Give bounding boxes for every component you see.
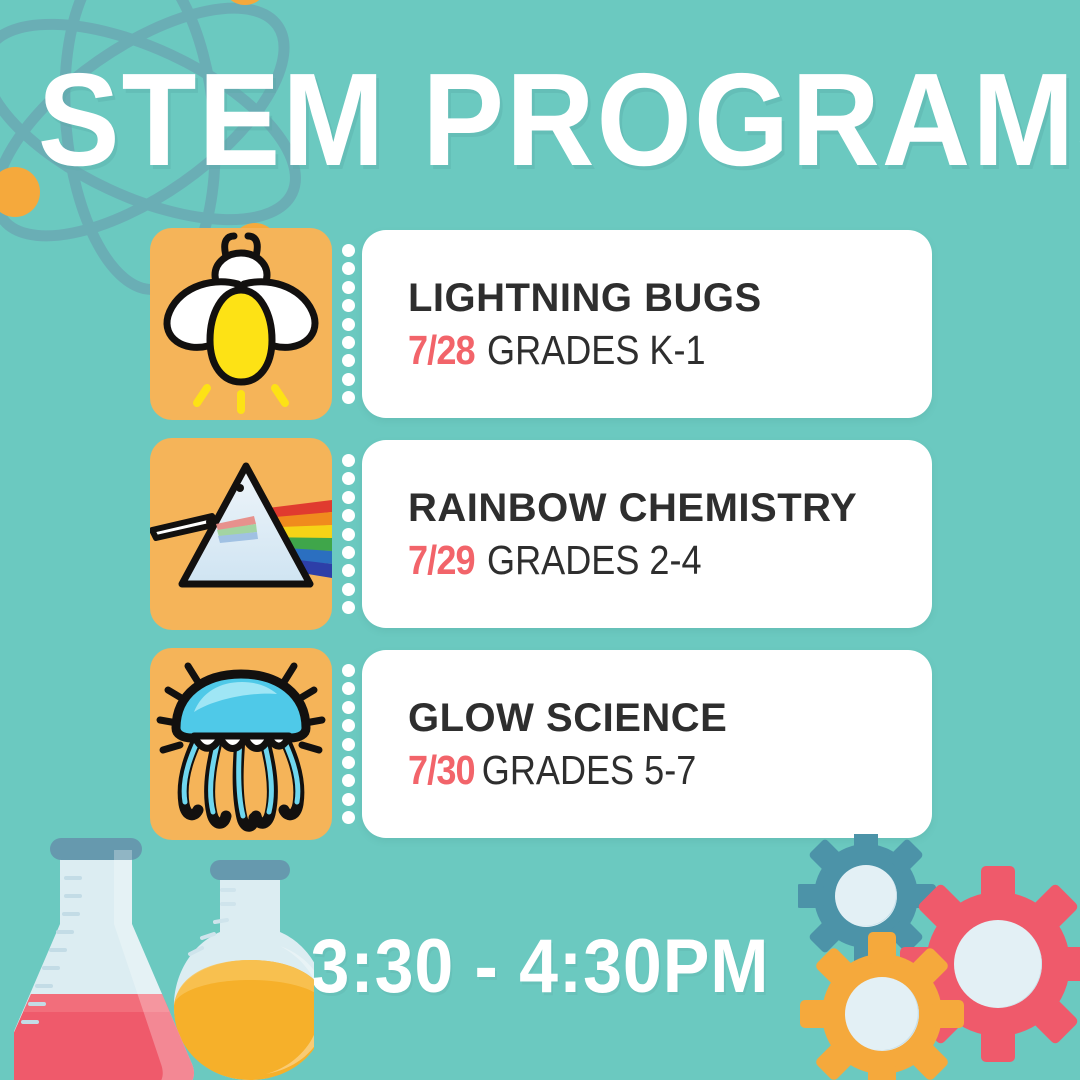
program-card[interactable]: GLOW SCIENCE 7/30GRADES 5-7: [362, 650, 932, 838]
firefly-icon: [150, 228, 332, 420]
program-date: 7/29: [408, 537, 475, 583]
program-icon-tile: [150, 438, 332, 630]
program-details: 7/29GRADES 2-4: [408, 537, 869, 583]
program-details: 7/30GRADES 5-7: [408, 747, 869, 793]
connector-dots: [340, 664, 356, 824]
program-grades: GRADES K-1: [487, 327, 706, 373]
program-date: 7/30: [408, 747, 475, 793]
time-label: 3:30 - 4:30PM: [43, 925, 1037, 1009]
program-name: LIGHTNING BUGS: [408, 275, 932, 321]
program-card[interactable]: RAINBOW CHEMISTRY 7/29GRADES 2-4: [362, 440, 932, 628]
page-title: STEM PROGRAMS: [38, 56, 1042, 184]
program-list: LIGHTNING BUGS 7/28GRADES K-1: [0, 228, 1080, 858]
program-icon-tile: [150, 228, 332, 420]
connector-dots: [340, 454, 356, 614]
program-icon-tile: [150, 648, 332, 840]
prism-icon: [150, 438, 332, 630]
program-name: GLOW SCIENCE: [408, 695, 932, 741]
stem-programs-flyer: STEM PROGRAMS: [0, 0, 1080, 1080]
jellyfish-icon: [150, 648, 332, 840]
program-row[interactable]: GLOW SCIENCE 7/30GRADES 5-7: [0, 648, 1080, 840]
program-row[interactable]: LIGHTNING BUGS 7/28GRADES K-1: [0, 228, 1080, 420]
program-card[interactable]: LIGHTNING BUGS 7/28GRADES K-1: [362, 230, 932, 418]
program-row[interactable]: RAINBOW CHEMISTRY 7/29GRADES 2-4: [0, 438, 1080, 630]
connector-dots: [340, 244, 356, 404]
program-grades: GRADES 5-7: [482, 747, 697, 793]
program-date: 7/28: [408, 327, 475, 373]
program-grades: GRADES 2-4: [487, 537, 702, 583]
program-details: 7/28GRADES K-1: [408, 327, 869, 373]
program-name: RAINBOW CHEMISTRY: [408, 485, 932, 531]
